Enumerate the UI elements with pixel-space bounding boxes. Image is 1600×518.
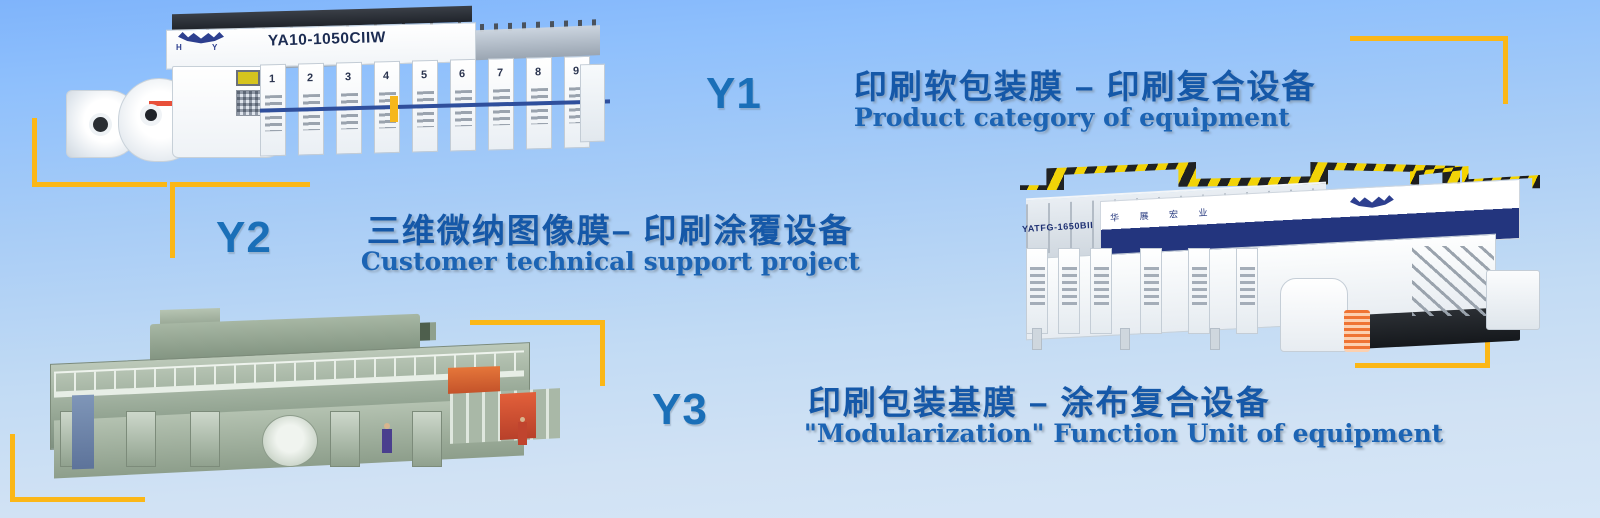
press-yellow-marker bbox=[390, 96, 398, 122]
unit-vents bbox=[531, 88, 548, 124]
process-station bbox=[1090, 248, 1112, 334]
category-english-y2: Customer technical support project bbox=[361, 249, 860, 275]
bracket-y2-horizontal bbox=[170, 182, 310, 187]
bracket-top-right-horizontal bbox=[1350, 36, 1508, 41]
process-station bbox=[1058, 248, 1080, 334]
blue-web-guide bbox=[72, 395, 94, 470]
category-code-y1: Y1 bbox=[706, 72, 762, 116]
category-text-y1: 印刷软包装膜 – 印刷复合设备 Product category of equi… bbox=[854, 70, 1317, 131]
orange-machine-section bbox=[448, 366, 500, 394]
print-unit-number: 6 bbox=[459, 68, 465, 80]
bracket-right-horizontal bbox=[1355, 363, 1490, 368]
category-row-y2: Y2 三维微纳图像膜– 印刷涂覆设备 Customer technical su… bbox=[216, 216, 860, 275]
bracket-middle-vertical bbox=[600, 320, 605, 386]
press-rewind-end bbox=[580, 64, 605, 143]
print-unit-number: 4 bbox=[383, 70, 389, 82]
process-station bbox=[1026, 248, 1048, 334]
station-vents bbox=[1144, 267, 1159, 305]
station-vents bbox=[1062, 267, 1077, 305]
roll-hub bbox=[93, 117, 108, 132]
category-english-y1: Product category of equipment bbox=[854, 105, 1317, 131]
bracket-y2-vertical bbox=[170, 182, 175, 258]
category-text-y2: 三维微纳图像膜– 印刷涂覆设备 Customer technical suppo… bbox=[367, 214, 860, 275]
winder-housing bbox=[1280, 278, 1348, 352]
print-unit-number: 9 bbox=[573, 65, 579, 77]
coating-station bbox=[412, 411, 442, 467]
print-unit-number: 3 bbox=[345, 71, 351, 83]
category-code-y3: Y3 bbox=[652, 388, 708, 432]
category-chinese-y1: 印刷软包装膜 – 印刷复合设备 bbox=[854, 70, 1317, 105]
worker-body bbox=[518, 422, 527, 445]
category-code-y2: Y2 bbox=[216, 216, 272, 260]
category-chinese-y3: 印刷包装基膜 – 涂布复合设备 bbox=[808, 386, 1443, 421]
bracket-top-left-horizontal bbox=[32, 182, 167, 187]
coating-station bbox=[126, 411, 156, 467]
machine-gravure-printing-press: H Y YA10-1050CIIW 1 2 3 4 5 6 7 8 9 bbox=[60, 8, 605, 178]
worker-body bbox=[382, 429, 392, 453]
brand-letter-h: H bbox=[176, 43, 182, 52]
roll-hub bbox=[145, 109, 157, 121]
press-control-screen bbox=[236, 70, 260, 86]
large-paper-roll bbox=[262, 415, 318, 467]
print-unit-number: 2 bbox=[307, 72, 313, 84]
brand-letter-y: Y bbox=[212, 43, 217, 52]
equipment-category-banner: H Y YA10-1050CIIW 1 2 3 4 5 6 7 8 9 bbox=[0, 0, 1600, 518]
coating-station bbox=[190, 411, 220, 467]
print-unit-number: 8 bbox=[535, 66, 541, 78]
bracket-top-left-vertical bbox=[32, 118, 37, 186]
print-unit-number: 7 bbox=[497, 67, 503, 79]
category-row-y1: Y1 印刷软包装膜 – 印刷复合设备 Product category of e… bbox=[706, 72, 1317, 131]
category-english-y3: "Modularization" Function Unit of equipm… bbox=[804, 421, 1443, 447]
press-keypad bbox=[236, 90, 262, 116]
station-vents bbox=[1094, 267, 1109, 305]
hy-bird-logo-icon: H Y bbox=[172, 32, 230, 52]
worker-figure bbox=[382, 423, 392, 453]
station-vents bbox=[1240, 267, 1255, 305]
frame-leg bbox=[1120, 328, 1130, 350]
machine-paper-coating-machine bbox=[30, 305, 575, 480]
access-stairs bbox=[1412, 246, 1494, 316]
unit-vents bbox=[455, 90, 472, 126]
category-row-y3: Y3 印刷包装基膜 – 涂布复合设备 "Modularization" Func… bbox=[652, 388, 1443, 447]
frame-leg bbox=[1210, 328, 1220, 350]
print-unit-number: 1 bbox=[269, 73, 275, 85]
unit-vents bbox=[265, 95, 282, 131]
process-station bbox=[1140, 248, 1162, 334]
print-unit-number: 5 bbox=[421, 69, 427, 81]
process-station bbox=[1188, 248, 1210, 334]
process-station bbox=[1236, 248, 1258, 334]
unit-vents bbox=[303, 94, 320, 130]
bracket-top-right-vertical bbox=[1503, 36, 1508, 104]
bracket-bottom-left-horizontal bbox=[10, 497, 145, 502]
station-vents bbox=[1030, 267, 1045, 305]
rewind-unit bbox=[1486, 270, 1540, 330]
coating-station bbox=[330, 411, 360, 467]
machine-coating-laminating-line: 华 展 宏 业 YATFG-1650BII bbox=[980, 160, 1540, 360]
frame-leg bbox=[1032, 328, 1042, 350]
station-vents bbox=[1192, 267, 1207, 305]
category-text-y3: 印刷包装基膜 – 涂布复合设备 "Modularization" Functio… bbox=[808, 386, 1443, 447]
category-chinese-y2: 三维微纳图像膜– 印刷涂覆设备 bbox=[367, 214, 860, 249]
unit-vents bbox=[341, 93, 358, 129]
orange-hose-coil bbox=[1344, 310, 1370, 352]
bracket-bottom-left-vertical bbox=[10, 434, 15, 502]
unit-vents bbox=[493, 89, 510, 125]
worker-figure bbox=[518, 417, 527, 445]
unit-vents bbox=[417, 91, 434, 127]
